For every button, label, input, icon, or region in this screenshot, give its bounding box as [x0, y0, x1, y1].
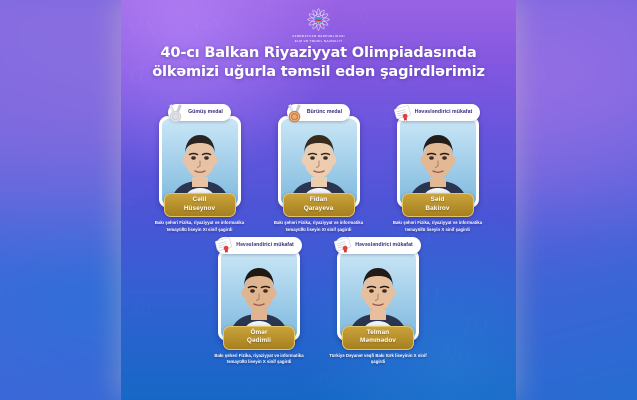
- certificate-scroll-glyph-icon: [213, 235, 234, 256]
- student-description: Türkiyə Dəyanət vəqfi Bakı türk liseyini…: [325, 353, 431, 365]
- student-description: Bakı şəhəri Fizika, riyaziyyat və inform…: [206, 353, 312, 365]
- award-badge: Bürünc medal: [287, 104, 350, 121]
- certificate-scroll-icon: [332, 235, 353, 256]
- student-last-name: Qədimli: [233, 337, 285, 346]
- portrait-telman-memmedov: [340, 252, 416, 338]
- student-row-2: Həvəsləndirici mükafatÖmərQədimliBakı şə…: [121, 237, 516, 366]
- student-description: Bakı şəhəri Fizika, riyaziyyat və inform…: [385, 220, 491, 232]
- award-badge: Gümüş medal: [168, 104, 231, 121]
- certificate-scroll-icon: [213, 235, 234, 256]
- student-card[interactable]: Həvəsləndirici mükafatTelmanMəmmədovTürk…: [323, 237, 433, 366]
- student-nameplate: SəidBakirov: [402, 193, 474, 217]
- student-description: Bakı şəhəri Fizika, riyaziyyat və inform…: [147, 220, 253, 232]
- ministry-brand: AZƏRBAYCAN RESPUBLİKASI ELM VƏ TƏHSİL NA…: [121, 6, 516, 44]
- award-label: Həvəsləndirici mükafat: [236, 242, 294, 249]
- student-last-name: Bakirov: [412, 205, 464, 214]
- student-card[interactable]: Gümüş medalCəlilHüseynovBakı şəhəri Fizi…: [145, 104, 255, 233]
- award-badge: Həvəsləndirici mükafat: [335, 237, 421, 254]
- poster-panel: √xdx(a∫√b2.bxm-1(1)= 0∑x²lnTONa√cdy: [121, 0, 516, 400]
- azerbaijan-ministry-emblem-icon: [305, 6, 332, 33]
- certificate-scroll-glyph-icon: [332, 235, 353, 256]
- student-description: Bakı şəhəri Fizika, riyaziyyat və inform…: [266, 220, 372, 232]
- portrait-omer-qedimli: [221, 252, 297, 338]
- student-last-name: Qarayeva: [293, 205, 345, 214]
- headline-line-2: ölkəmizi uğurla təmsil edən şagirdlərimi…: [135, 63, 502, 82]
- certificate-scroll-glyph-icon: [392, 102, 413, 123]
- headline-line-1: 40-cı Balkan Riyaziyyat Olimpiadasında: [160, 44, 476, 61]
- award-badge: Həvəsləndirici mükafat: [216, 237, 302, 254]
- poster-screenshot: √xdx(a∫√b2.bxm-1(1)= 0∑x²lnTONa√cdy: [0, 0, 637, 400]
- student-first-name: Səid: [412, 196, 464, 205]
- student-nameplate: ÖmərQədimli: [223, 326, 295, 350]
- award-label: Həvəsləndirici mükafat: [415, 109, 473, 116]
- student-portrait-illustration: [221, 252, 297, 338]
- award-badge: Həvəsləndirici mükafat: [395, 104, 481, 121]
- award-label: Gümüş medal: [188, 109, 223, 116]
- student-nameplate: FidanQarayeva: [283, 193, 355, 217]
- student-card-rows: Gümüş medalCəlilHüseynovBakı şəhəri Fizi…: [121, 104, 516, 365]
- student-last-name: Məmmədov: [352, 337, 404, 346]
- medal-glyph-icon: [284, 102, 305, 123]
- silver-medal-icon: [165, 102, 186, 123]
- certificate-scroll-icon: [392, 102, 413, 123]
- student-row-1: Gümüş medalCəlilHüseynovBakı şəhəri Fizi…: [121, 104, 516, 233]
- student-card[interactable]: Həvəsləndirici mükafatÖmərQədimliBakı şə…: [204, 237, 314, 366]
- student-nameplate: CəlilHüseynov: [164, 193, 236, 217]
- student-portrait-illustration: [340, 252, 416, 338]
- student-card[interactable]: Bürünc medalFidanQarayevaBakı şəhəri Fiz…: [264, 104, 374, 233]
- student-first-name: Cəlil: [174, 196, 226, 205]
- ministry-line-1: AZƏRBAYCAN RESPUBLİKASI: [292, 34, 345, 38]
- bronze-medal-icon: [284, 102, 305, 123]
- student-last-name: Hüseynov: [174, 205, 226, 214]
- medal-glyph-icon: [165, 102, 186, 123]
- student-nameplate: TelmanMəmmədov: [342, 326, 414, 350]
- student-card[interactable]: Həvəsləndirici mükafatSəidBakirovBakı şə…: [383, 104, 493, 233]
- award-label: Bürünc medal: [307, 109, 342, 116]
- student-first-name: Fidan: [293, 196, 345, 205]
- award-label: Həvəsləndirici mükafat: [355, 242, 413, 249]
- page-title: 40-cı Balkan Riyaziyyat Olimpiadasında ö…: [135, 44, 502, 82]
